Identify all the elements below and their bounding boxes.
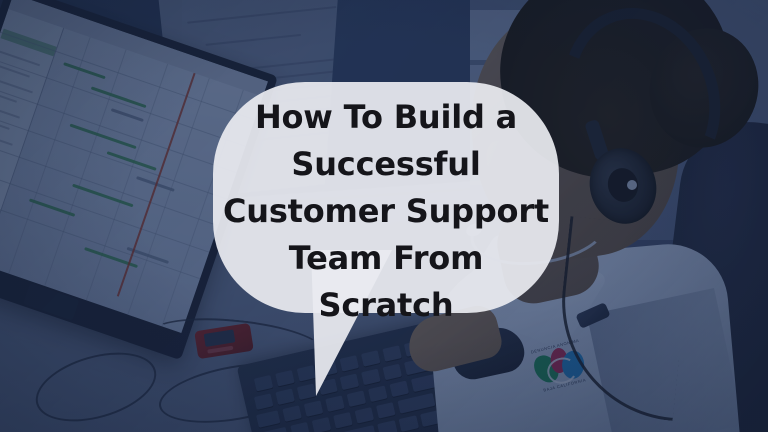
banner-graphic: DENUNCIA ANONIMA BAJA CALIFORNIA (0, 0, 768, 432)
headline-line-4: Team From (213, 235, 559, 282)
headline-line-2: Successful (213, 141, 559, 188)
headline-line-1: How To Build a (213, 94, 559, 141)
headline-text: How To Build a Successful Customer Suppo… (213, 94, 559, 329)
headline-line-3: Customer Support (213, 188, 559, 235)
headline-line-5: Scratch (213, 282, 559, 329)
